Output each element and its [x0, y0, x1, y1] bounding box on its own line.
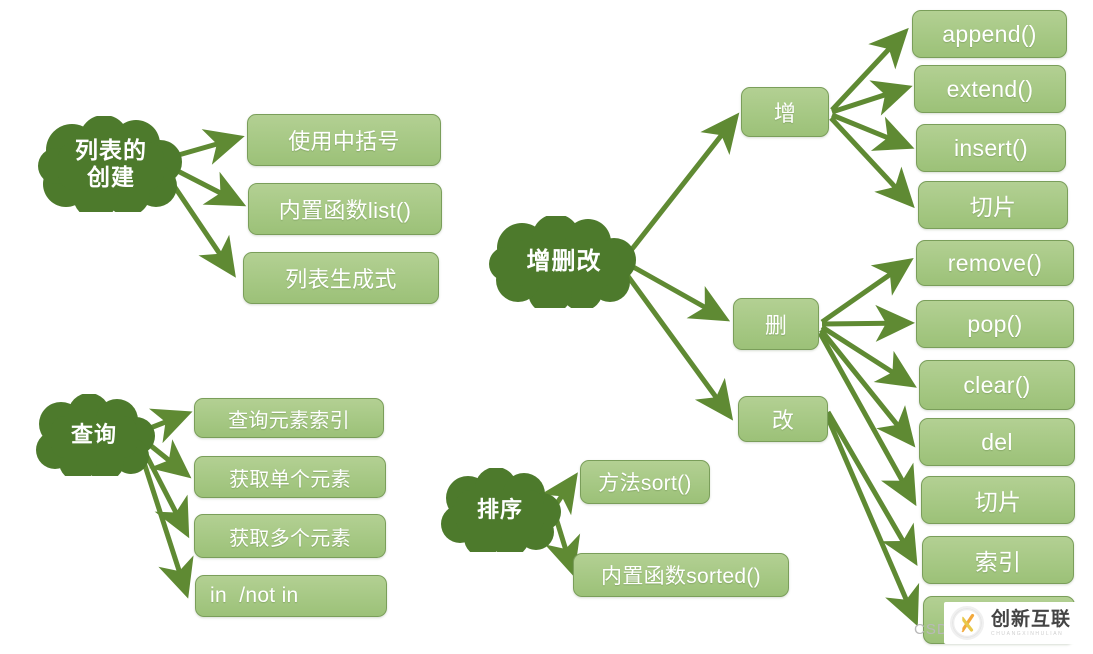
edge-del-clear — [822, 327, 911, 384]
node-insert[interactable]: insert() — [916, 124, 1066, 172]
node-builtin-sorted[interactable]: 内置函数sorted() — [573, 553, 789, 597]
cloud-label: 列表的创建 — [75, 137, 147, 191]
edge-del-remove — [822, 262, 908, 322]
brand-name: 创新互联 — [991, 610, 1071, 629]
cloud-query[interactable]: 查询 — [33, 394, 155, 476]
edge-cud-del — [628, 264, 724, 318]
node-append[interactable]: append() — [912, 10, 1067, 58]
node-list-comprehension[interactable]: 列表生成式 — [243, 252, 439, 304]
node-method-sort[interactable]: 方法sort() — [580, 460, 710, 504]
node-use-brackets[interactable]: 使用中括号 — [247, 114, 441, 166]
node-add[interactable]: 增 — [741, 87, 829, 137]
edge-del-pop — [822, 323, 908, 324]
cloud-crud[interactable]: 增删改 — [488, 216, 640, 308]
edge-add-extend — [832, 88, 906, 112]
node-delete[interactable]: 删 — [733, 298, 819, 350]
node-get-single-element[interactable]: 获取单个元素 — [194, 456, 386, 498]
edge-del-del — [821, 330, 911, 442]
brand-watermark: 创新互联 CHUANGXINHULIAN — [944, 602, 1081, 644]
brand-subtitle: CHUANGXINHULIAN — [991, 632, 1071, 637]
edge-del-slice2 — [820, 333, 913, 500]
node-del[interactable]: del — [919, 418, 1075, 466]
node-get-multiple-elements[interactable]: 获取多个元素 — [194, 514, 386, 558]
node-query-element-index[interactable]: 查询元素索引 — [194, 398, 384, 438]
node-builtin-list[interactable]: 内置函数list() — [248, 183, 442, 235]
edge-add-append — [832, 33, 904, 110]
node-pop[interactable]: pop() — [916, 300, 1074, 348]
edge-mod-hidden — [827, 416, 915, 620]
node-remove[interactable]: remove() — [916, 240, 1074, 286]
brand-logo-icon — [950, 606, 984, 640]
edge-cud-add — [625, 118, 735, 258]
edge-add-slice — [831, 118, 910, 203]
node-slice-add[interactable]: 切片 — [918, 181, 1068, 229]
node-index[interactable]: 索引 — [922, 536, 1074, 584]
cloud-label: 查询 — [71, 422, 117, 448]
node-slice-delete[interactable]: 切片 — [921, 476, 1075, 524]
node-modify[interactable]: 改 — [738, 396, 828, 442]
cloud-sort[interactable]: 排序 — [438, 468, 562, 552]
cloud-label: 排序 — [477, 497, 523, 523]
edge-add-insert — [832, 115, 908, 146]
node-clear[interactable]: clear() — [919, 360, 1075, 410]
node-extend[interactable]: extend() — [914, 65, 1066, 113]
node-in-not-in[interactable]: in /not in — [195, 575, 387, 617]
edge-mod-index — [828, 412, 914, 560]
cloud-label: 增删改 — [527, 248, 602, 276]
mindmap-canvas: 列表的创建 查询 增删改 — [0, 0, 1093, 654]
cloud-list-creation[interactable]: 列表的创建 — [38, 116, 184, 212]
